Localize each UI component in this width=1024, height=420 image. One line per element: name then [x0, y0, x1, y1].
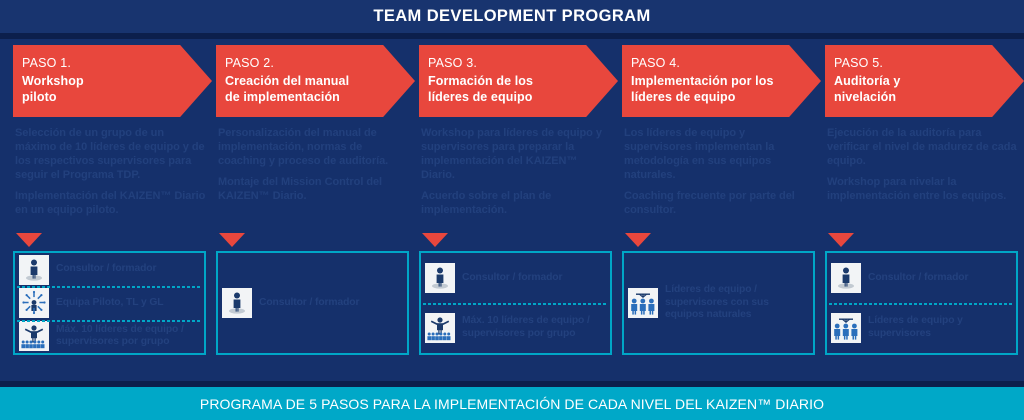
step-description-3: Workshop para líderes de equipo y superv…: [419, 117, 618, 233]
step-paragraph: Personalización del manual de implementa…: [218, 126, 409, 168]
three-people-group-icon: [628, 288, 658, 318]
step-column-4: PASO 4.Implementación por los líderes de…: [622, 45, 821, 375]
triangle-down-icon: [625, 233, 651, 247]
participant-row[interactable]: Máx. 10 líderes de equipo / supervisores…: [421, 303, 610, 353]
participants-box-4: Líderes de equipo / supervisores con sus…: [622, 251, 815, 355]
step-number-label: PASO 2.: [225, 56, 415, 72]
single-person-icon: [19, 255, 49, 285]
step-number-label: PASO 4.: [631, 56, 821, 72]
participant-label: Equipa Piloto, TL y GL: [56, 297, 163, 310]
participant-row[interactable]: Líderes de equipo y supervisores: [827, 303, 1016, 353]
down-triangle-marker: [13, 233, 212, 251]
participant-label: Consultor / formador: [56, 263, 156, 276]
participant-row[interactable]: Consultor / formador: [218, 253, 407, 353]
page-title: TEAM DEVELOPMENT PROGRAM: [373, 7, 650, 26]
down-triangle-marker: [419, 233, 618, 251]
step-paragraph: Los líderes de equipo y supervisores imp…: [624, 126, 815, 182]
participant-label: Consultor / formador: [259, 297, 359, 310]
step-description-1: Selección de un grupo de un máximo de 10…: [13, 117, 212, 233]
step-number-label: PASO 1.: [22, 56, 212, 72]
step-description-2: Personalización del manual de implementa…: [216, 117, 415, 233]
step-description-4: Los líderes de equipo y supervisores imp…: [622, 117, 821, 233]
step-heading: Auditoría y nivelación: [834, 72, 999, 106]
step-heading: Formación de los líderes de equipo: [428, 72, 593, 106]
step-paragraph: Workshop para nivelar la implementación …: [827, 175, 1018, 203]
triangle-down-icon: [16, 233, 42, 247]
step-column-3: PASO 3.Formación de los líderes de equip…: [419, 45, 618, 375]
step-arrow-header-3[interactable]: PASO 3.Formación de los líderes de equip…: [419, 45, 618, 117]
participant-label: Máx. 10 líderes de equipo / supervisores…: [462, 315, 606, 340]
infographic-page: TEAM DEVELOPMENT PROGRAM PASO 1.Workshop…: [0, 0, 1024, 420]
triangle-down-icon: [828, 233, 854, 247]
participant-row[interactable]: Equipa Piloto, TL y GL: [15, 286, 204, 319]
step-arrow-header-4[interactable]: PASO 4.Implementación por los líderes de…: [622, 45, 821, 117]
step-paragraph: Selección de un grupo de un máximo de 10…: [15, 126, 206, 182]
step-paragraph: Montaje del Mission Control del KAIZEN™ …: [218, 175, 409, 203]
participant-row[interactable]: Líderes de equipo / supervisores con sus…: [624, 253, 813, 353]
step-arrow-header-1[interactable]: PASO 1.Workshop piloto: [13, 45, 212, 117]
triangle-down-icon: [219, 233, 245, 247]
participant-label: Líderes de equipo y supervisores: [868, 315, 1012, 340]
participant-row[interactable]: Consultor / formador: [827, 253, 1016, 303]
person-radiating-icon: [19, 288, 49, 318]
footer-band: PROGRAMA DE 5 PASOS PARA LA IMPLEMENTACI…: [0, 387, 1024, 420]
triangle-down-icon: [422, 233, 448, 247]
down-triangle-marker: [825, 233, 1024, 251]
step-heading: Implementación por los líderes de equipo: [631, 72, 796, 106]
person-with-audience-icon: [425, 313, 455, 343]
footer-caption: PROGRAMA DE 5 PASOS PARA LA IMPLEMENTACI…: [200, 396, 824, 412]
participant-row[interactable]: Consultor / formador: [15, 253, 204, 286]
participants-box-3: Consultor / formadorMáx. 10 líderes de e…: [419, 251, 612, 355]
participant-row[interactable]: Máx. 10 líderes de equipo / supervisores…: [15, 320, 204, 353]
step-number-label: PASO 5.: [834, 56, 1024, 72]
step-paragraph: Acuerdo sobre el plan de implementación.: [421, 189, 612, 217]
step-paragraph: Ejecución de la auditoría para verificar…: [827, 126, 1018, 168]
participant-label: Consultor / formador: [868, 272, 968, 285]
person-with-audience-icon: [19, 321, 49, 351]
step-column-1: PASO 1.Workshop pilotoSelección de un gr…: [13, 45, 212, 375]
step-paragraph: Coaching frecuente por parte del consult…: [624, 189, 815, 217]
step-heading: Creación del manual de implementación: [225, 72, 390, 106]
participant-label: Consultor / formador: [462, 272, 562, 285]
step-arrow-header-2[interactable]: PASO 2.Creación del manual de implementa…: [216, 45, 415, 117]
three-people-group-icon: [831, 313, 861, 343]
participant-label: Líderes de equipo / supervisores con sus…: [665, 284, 809, 322]
steps-container: PASO 1.Workshop pilotoSelección de un gr…: [13, 45, 1011, 375]
participant-row[interactable]: Consultor / formador: [421, 253, 610, 303]
down-triangle-marker: [622, 233, 821, 251]
participant-label: Máx. 10 líderes de equipo / supervisores…: [56, 324, 200, 349]
step-number-label: PASO 3.: [428, 56, 618, 72]
single-person-icon: [222, 288, 252, 318]
participants-box-2: Consultor / formador: [216, 251, 409, 355]
single-person-icon: [425, 263, 455, 293]
down-triangle-marker: [216, 233, 415, 251]
header-band: TEAM DEVELOPMENT PROGRAM: [0, 0, 1024, 33]
step-paragraph: Implementación del KAIZEN™ Diario en un …: [15, 189, 206, 217]
step-column-5: PASO 5.Auditoría y nivelaciónEjecución d…: [825, 45, 1024, 375]
step-column-2: PASO 2.Creación del manual de implementa…: [216, 45, 415, 375]
participants-box-1: Consultor / formadorEquipa Piloto, TL y …: [13, 251, 206, 355]
single-person-icon: [831, 263, 861, 293]
participants-box-5: Consultor / formadorLíderes de equipo y …: [825, 251, 1018, 355]
step-arrow-header-5[interactable]: PASO 5.Auditoría y nivelación: [825, 45, 1024, 117]
step-heading: Workshop piloto: [22, 72, 187, 106]
header-divider: [0, 33, 1024, 39]
step-paragraph: Workshop para líderes de equipo y superv…: [421, 126, 612, 182]
step-description-5: Ejecución de la auditoría para verificar…: [825, 117, 1024, 233]
